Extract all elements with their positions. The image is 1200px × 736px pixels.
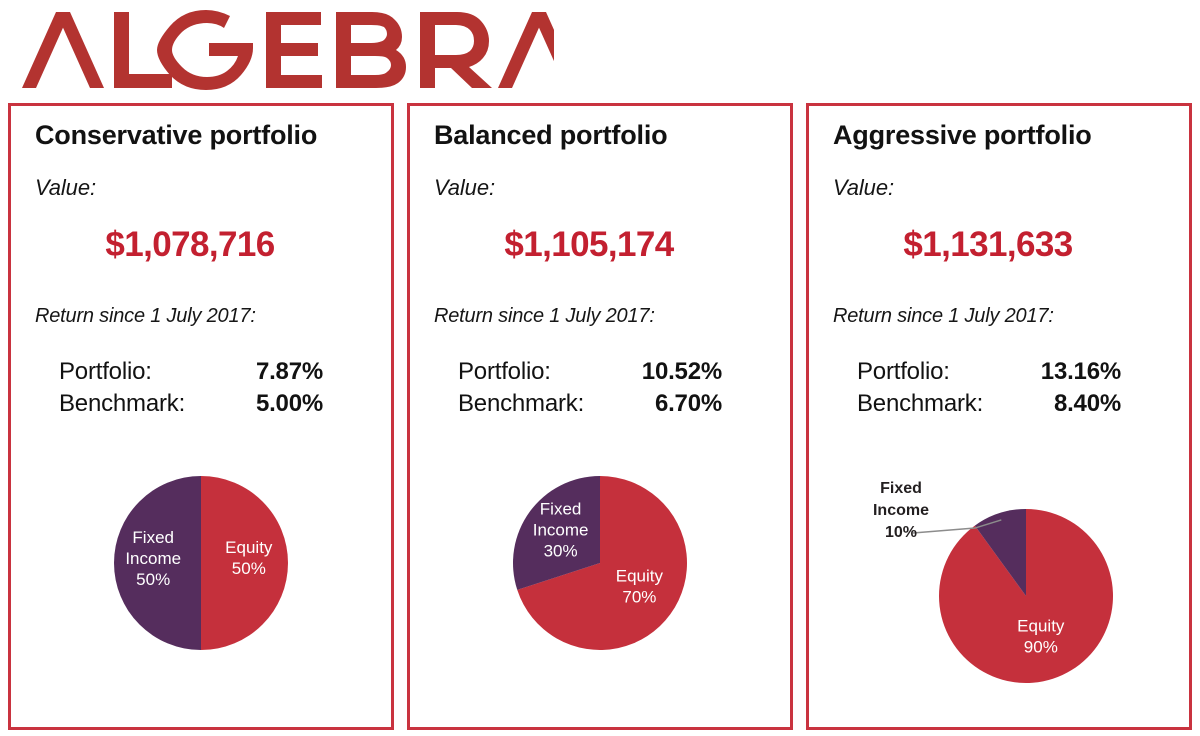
return-row-key: Benchmark: — [857, 388, 1016, 420]
table-row: Benchmark: 8.40% — [857, 388, 1135, 420]
return-period-label: Return since 1 July 2017: — [833, 305, 1167, 328]
allocation-pie-chart: Equity70%FixedIncome30% — [410, 463, 790, 713]
return-row-key: Benchmark: — [458, 388, 617, 420]
return-row-key: Portfolio: — [59, 356, 228, 388]
return-row-value: 6.70% — [617, 388, 736, 420]
return-row-value: 10.52% — [617, 356, 736, 388]
card-title: Balanced portfolio — [434, 120, 768, 151]
table-row: Benchmark: 6.70% — [458, 388, 736, 420]
portfolio-card-balanced: Balanced portfolio Value: $1,105,174 Ret… — [407, 103, 793, 730]
card-title: Conservative portfolio — [35, 120, 369, 151]
table-row: Portfolio: 7.87% — [59, 356, 337, 388]
value-label: Value: — [35, 175, 369, 201]
returns-table: Portfolio: 10.52% Benchmark: 6.70% — [458, 356, 736, 419]
returns-table: Portfolio: 13.16% Benchmark: 8.40% — [857, 356, 1135, 419]
card-title: Aggressive portfolio — [833, 120, 1167, 151]
allocation-pie-chart: Equity90%FixedIncome10% — [809, 463, 1189, 713]
allocation-pie-chart: Equity50%FixedIncome50% — [11, 463, 391, 713]
pie-chart-svg: Equity70%FixedIncome30% — [485, 463, 715, 663]
portfolio-value: $1,131,633 — [831, 225, 1167, 265]
portfolio-value: $1,105,174 — [432, 225, 768, 265]
return-row-key: Benchmark: — [59, 388, 228, 420]
pie-chart-svg: Equity90%FixedIncome10% — [859, 463, 1139, 693]
return-period-label: Return since 1 July 2017: — [35, 305, 369, 328]
table-row: Portfolio: 10.52% — [458, 356, 736, 388]
return-row-key: Portfolio: — [857, 356, 1016, 388]
value-label: Value: — [833, 175, 1167, 201]
portfolio-card-conservative: Conservative portfolio Value: $1,078,716… — [8, 103, 394, 730]
return-row-value: 8.40% — [1016, 388, 1135, 420]
return-row-value: 5.00% — [228, 388, 337, 420]
return-row-value: 13.16% — [1016, 356, 1135, 388]
portfolio-card-aggressive: Aggressive portfolio Value: $1,131,633 R… — [806, 103, 1192, 730]
portfolio-card-row: Conservative portfolio Value: $1,078,716… — [8, 103, 1192, 730]
returns-table: Portfolio: 7.87% Benchmark: 5.00% — [59, 356, 337, 419]
return-row-value: 7.87% — [228, 356, 337, 388]
table-row: Portfolio: 13.16% — [857, 356, 1135, 388]
portfolio-value: $1,078,716 — [33, 225, 369, 265]
return-period-label: Return since 1 July 2017: — [434, 305, 768, 328]
algebra-logo — [14, 10, 554, 90]
table-row: Benchmark: 5.00% — [59, 388, 337, 420]
value-label: Value: — [434, 175, 768, 201]
return-row-key: Portfolio: — [458, 356, 617, 388]
pie-chart-svg: Equity50%FixedIncome50% — [86, 463, 316, 663]
